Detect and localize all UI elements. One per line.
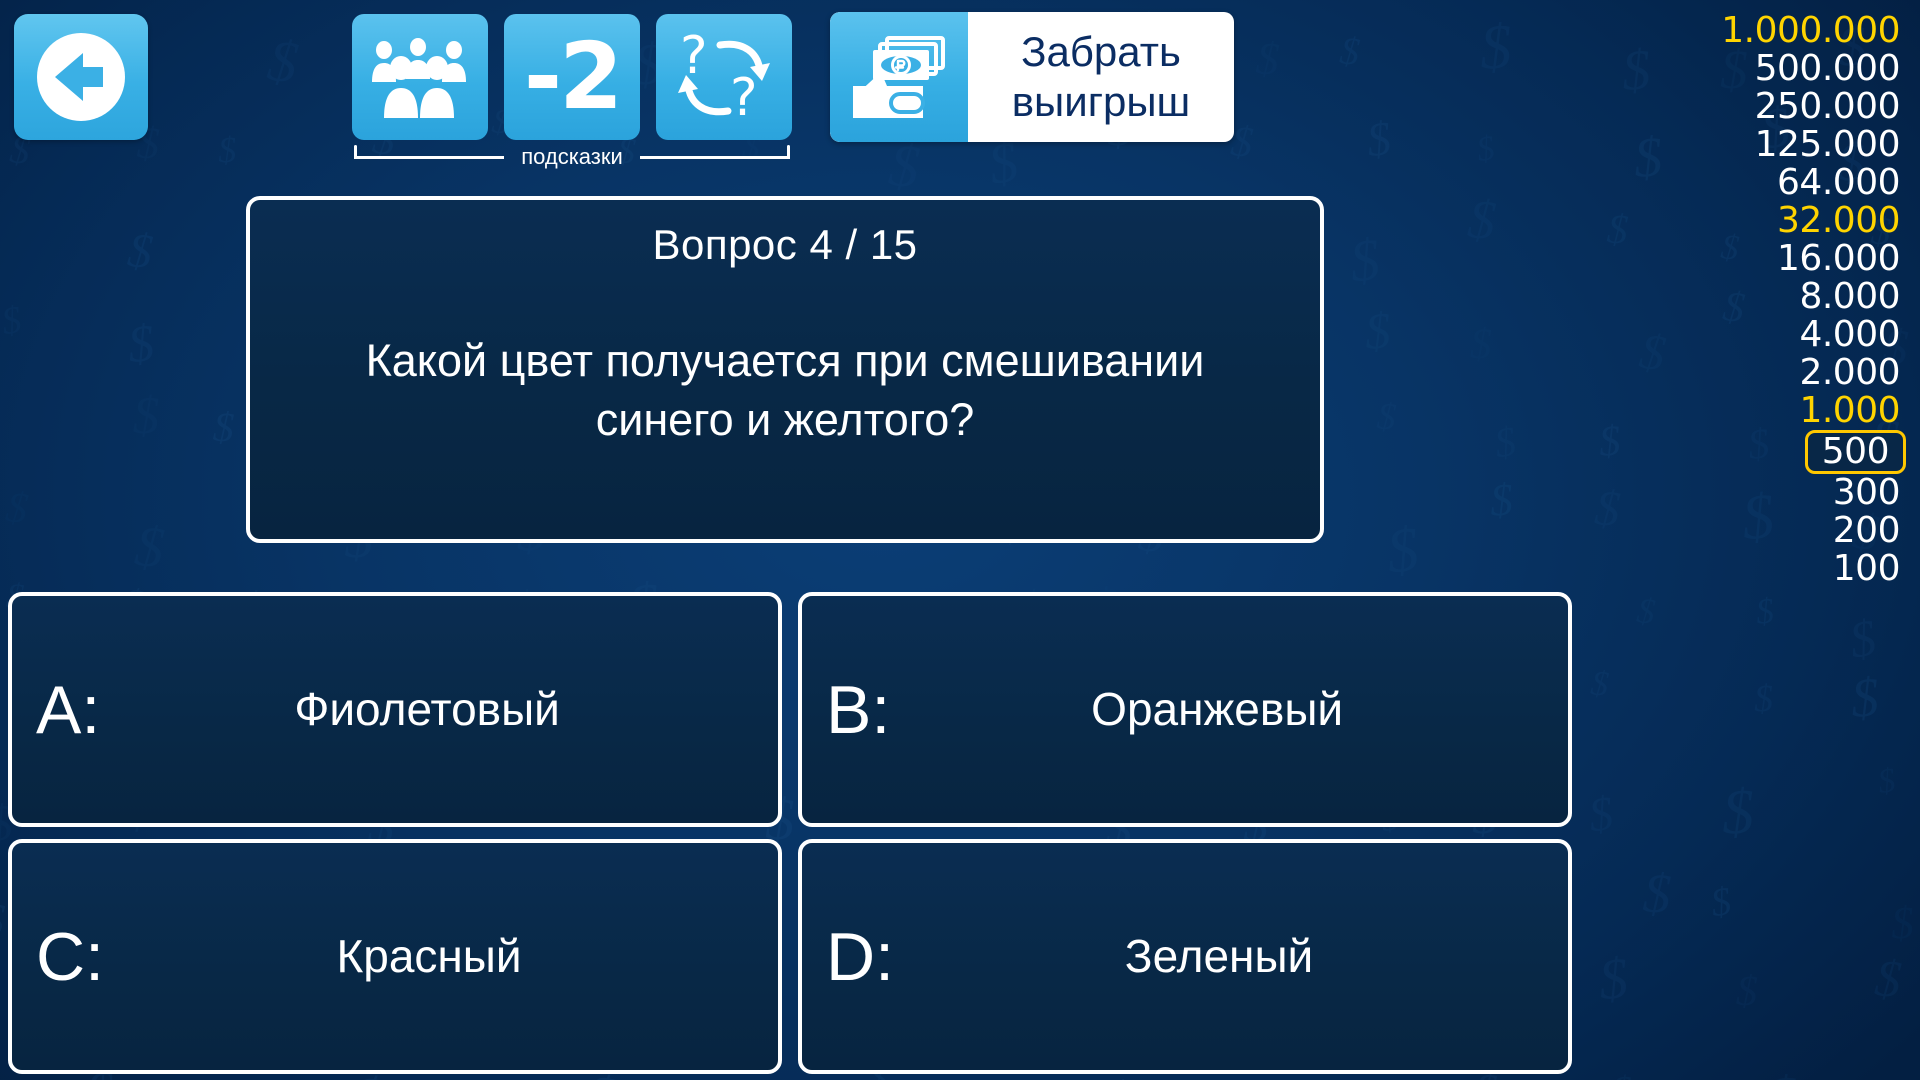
dollar-sign-watermark: $ — [125, 226, 155, 277]
hint-audience-button[interactable] — [352, 14, 488, 140]
svg-text:?: ? — [730, 68, 758, 125]
dollar-sign-watermark: $ — [1384, 518, 1422, 584]
dollar-sign-watermark: $ — [1589, 665, 1610, 702]
dollar-sign-watermark: $ — [1488, 477, 1513, 524]
question-counter: Вопрос 4 / 15 — [652, 220, 917, 270]
audience-icon — [368, 34, 472, 120]
dollar-sign-watermark: $ — [1586, 790, 1616, 841]
dollar-sign-watermark: $ — [1612, 1071, 1632, 1080]
cashout-label-line2: выигрыш — [1012, 78, 1191, 125]
dollar-sign-watermark: $ — [1375, 397, 1397, 436]
answer-option-d[interactable]: D:Зеленый — [798, 839, 1572, 1074]
dollar-sign-watermark: $ — [1491, 422, 1518, 467]
dollar-sign-watermark: $ — [1753, 680, 1773, 719]
dollar-sign-watermark: $ — [1347, 230, 1383, 292]
cashout-button[interactable]: Забрать выигрыш — [830, 12, 1234, 142]
answer-text: Фиолетовый — [100, 683, 778, 736]
dollar-sign-watermark: $ — [1598, 420, 1622, 464]
dollar-sign-watermark: $ — [1735, 970, 1758, 1014]
dollar-sign-watermark: $ — [1592, 482, 1621, 534]
answer-option-b[interactable]: B:Оранжевый — [798, 592, 1572, 827]
ladder-row-current: 500 — [1805, 430, 1906, 474]
arrow-left-circle-icon — [33, 29, 129, 125]
dollar-sign-watermark: $ — [0, 897, 7, 946]
dollar-sign-watermark: $ — [0, 300, 24, 341]
question-text: Какой цвет получается при смешивании син… — [250, 332, 1320, 449]
ladder-row: 200 — [1827, 512, 1906, 550]
answer-letter: C: — [12, 923, 104, 991]
ladder-row: 4.000 — [1793, 316, 1906, 354]
dollar-sign-watermark: $ — [132, 518, 167, 578]
answer-option-a[interactable]: A:Фиолетовый — [8, 592, 782, 827]
hint-remove-two-button[interactable]: -2 — [504, 14, 640, 140]
ladder-row: 300 — [1827, 474, 1906, 512]
dollar-sign-watermark: $ — [1465, 191, 1498, 248]
dollar-sign-watermark: $ — [212, 407, 235, 450]
hint-swap-question-button[interactable]: ? ? — [656, 14, 792, 140]
hints-bracket: подсказки — [352, 140, 792, 174]
ladder-row: 2.000 — [1793, 354, 1906, 392]
question-panel: Вопрос 4 / 15 Какой цвет получается при … — [246, 196, 1324, 543]
cashout-label: Забрать выигрыш — [968, 12, 1234, 142]
dollar-sign-watermark: $ — [1754, 593, 1775, 630]
dollar-sign-watermark: $ — [515, 1076, 548, 1080]
ladder-row: 64.000 — [1771, 164, 1906, 202]
dollar-sign-watermark: $ — [1253, 1073, 1288, 1080]
cashout-icon-wrap — [830, 12, 968, 142]
dollar-sign-watermark: $ — [126, 318, 157, 372]
answer-text: Зеленый — [894, 930, 1568, 983]
hint-buttons-group: -2 ? ? — [352, 14, 792, 140]
ladder-row: 16.000 — [1771, 240, 1906, 278]
answer-options: A:ФиолетовыйB:ОранжевыйC:КрасныйD:Зелены… — [8, 592, 1572, 1074]
answer-letter: A: — [12, 676, 100, 744]
top-bar: -2 ? ? — [0, 0, 1920, 185]
dollar-sign-watermark: $ — [1765, 1067, 1799, 1080]
ladder-row: 250.000 — [1749, 88, 1906, 126]
dollar-sign-watermark: $ — [133, 390, 160, 443]
answer-letter: B: — [802, 676, 890, 744]
ladder-row: 125.000 — [1749, 126, 1906, 164]
cashout-label-line1: Забрать — [1021, 28, 1181, 75]
ladder-row: 1.000 — [1793, 392, 1906, 430]
dollar-sign-watermark: $ — [3, 485, 30, 531]
ladder-row: 1.000.000 — [1715, 12, 1906, 50]
answer-text: Оранжевый — [890, 683, 1568, 736]
swap-question-icon: ? ? — [674, 29, 774, 125]
answer-letter: D: — [802, 923, 894, 991]
dollar-sign-watermark: $ — [1876, 763, 1898, 800]
dollar-sign-watermark: $ — [1846, 612, 1880, 667]
back-button[interactable] — [14, 14, 148, 140]
ladder-row: 32.000 — [1771, 202, 1906, 240]
svg-text:?: ? — [680, 29, 708, 86]
dollar-sign-watermark: $ — [1597, 950, 1630, 1010]
ladder-row: 100 — [1827, 550, 1906, 588]
dollar-sign-watermark: $ — [1721, 779, 1755, 844]
dollar-sign-watermark: $ — [1106, 1074, 1133, 1080]
dollar-sign-watermark: $ — [1364, 305, 1392, 358]
dollar-sign-watermark: $ — [1470, 322, 1492, 366]
dollar-sign-watermark: $ — [1635, 592, 1657, 630]
dollar-sign-watermark: $ — [1708, 882, 1734, 924]
dollar-sign-watermark: $ — [1873, 952, 1904, 1006]
dollar-sign-watermark: $ — [1890, 899, 1915, 946]
hints-label: подсказки — [352, 142, 792, 172]
prize-ladder: 1.000.000500.000250.000125.00064.00032.0… — [1676, 12, 1906, 588]
answer-option-c[interactable]: C:Красный — [8, 839, 782, 1074]
dollar-sign-watermark: $ — [1849, 670, 1880, 727]
dollar-sign-watermark: $ — [1642, 867, 1673, 924]
minus-two-icon: -2 — [524, 31, 620, 123]
dollar-sign-watermark: $ — [1606, 209, 1630, 252]
quiz-game-screen: $$$$$$$$$$$$$$$$$$$$$$$$$$$$$$$$$$$$$$$$… — [0, 0, 1920, 1080]
wallet-money-icon — [847, 32, 951, 122]
ladder-row: 500.000 — [1749, 50, 1906, 88]
ladder-row: 8.000 — [1793, 278, 1906, 316]
dollar-sign-watermark: $ — [1636, 325, 1668, 379]
answer-text: Красный — [104, 930, 778, 983]
